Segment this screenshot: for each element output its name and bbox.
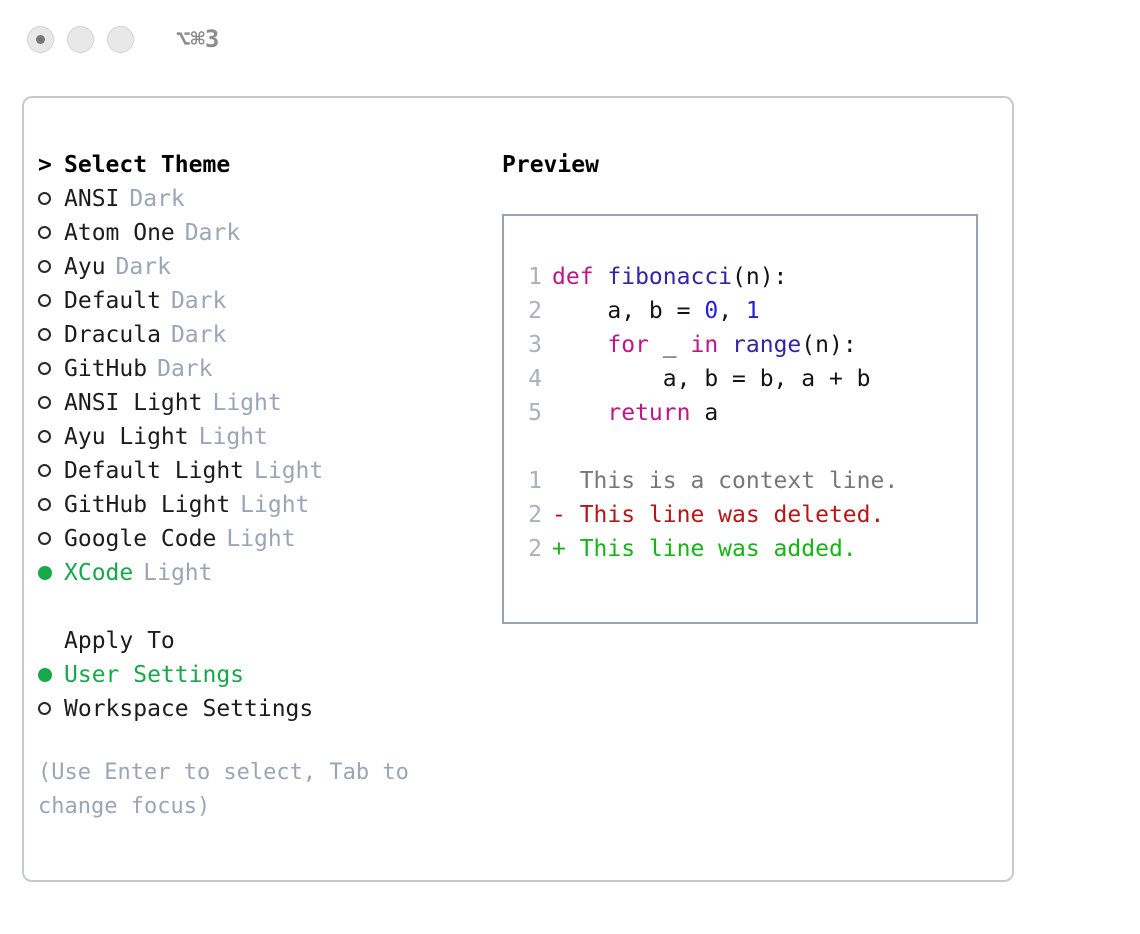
- theme-list-item[interactable]: GitHubDark: [38, 352, 478, 386]
- theme-name: Default: [64, 284, 161, 318]
- theme-name: GitHub Light: [64, 488, 230, 522]
- window-dot-second-icon[interactable]: [67, 26, 94, 53]
- theme-variant-tag: Dark: [116, 250, 171, 284]
- line-number: 1: [522, 464, 552, 498]
- theme-name: Ayu: [64, 250, 106, 284]
- code-line: 1def fibonacci(n):: [522, 260, 976, 294]
- theme-name: Dracula: [64, 318, 161, 352]
- theme-name: ANSI Light: [64, 386, 202, 420]
- diff-line: 1 This is a context line.: [522, 464, 976, 498]
- radio-shape: [38, 566, 52, 580]
- line-number: 4: [522, 362, 552, 396]
- theme-name: XCode: [64, 556, 133, 590]
- code-token: 0: [704, 298, 718, 324]
- theme-variant-tag: Light: [240, 488, 309, 522]
- diff-sample: 1 This is a context line.2- This line wa…: [522, 464, 976, 566]
- app-window: ⌥⌘3 > Select Theme ANSIDarkAtom OneDarkA…: [0, 0, 1140, 934]
- code-line: 2 a, b = 0, 1: [522, 294, 976, 328]
- theme-name: Ayu Light: [64, 420, 189, 454]
- code-token: a: [690, 400, 718, 426]
- apply-to-list: User SettingsWorkspace Settings: [38, 658, 478, 726]
- radio-unselected-icon: [38, 250, 64, 284]
- theme-variant-tag: Dark: [171, 284, 226, 318]
- theme-list-item[interactable]: ANSI LightLight: [38, 386, 478, 420]
- code-token: (n):: [732, 264, 787, 290]
- radio-shape: [38, 362, 51, 375]
- code-text: for _ in range(n):: [552, 328, 857, 362]
- code-line: 4 a, b = b, a + b: [522, 362, 976, 396]
- window-dot-third-icon[interactable]: [107, 26, 134, 53]
- theme-variant-tag: Dark: [171, 318, 226, 352]
- theme-name: Google Code: [64, 522, 216, 556]
- preview-title: Preview: [502, 148, 1002, 182]
- window-dot-active-icon[interactable]: [27, 26, 54, 53]
- code-text: This is a context line.: [552, 464, 898, 498]
- code-text: - This line was deleted.: [552, 498, 884, 532]
- code-diff-gap: [522, 430, 976, 464]
- radio-shape: [38, 464, 51, 477]
- line-number: 2: [522, 498, 552, 532]
- window-dot-inner: [36, 35, 45, 44]
- theme-variant-tag: Light: [226, 522, 295, 556]
- theme-list-header: > Select Theme: [38, 148, 478, 182]
- apply-to-option[interactable]: User Settings: [38, 658, 478, 692]
- keyboard-shortcut-label: ⌥⌘3: [176, 27, 219, 51]
- prompt-caret-icon: >: [38, 148, 64, 182]
- theme-name: GitHub: [64, 352, 147, 386]
- theme-list-item[interactable]: Google CodeLight: [38, 522, 478, 556]
- radio-shape: [38, 498, 51, 511]
- line-number: 1: [522, 260, 552, 294]
- theme-variant-tag: Light: [212, 386, 281, 420]
- theme-list-item[interactable]: XCodeLight: [38, 556, 478, 590]
- code-token: + This line was added.: [552, 536, 857, 562]
- radio-unselected-icon: [38, 216, 64, 250]
- theme-list-item[interactable]: AyuDark: [38, 250, 478, 284]
- radio-shape: [38, 532, 51, 545]
- theme-list-item[interactable]: Ayu LightLight: [38, 420, 478, 454]
- code-token: a, b = b, a + b: [552, 366, 871, 392]
- theme-variant-tag: Dark: [185, 216, 240, 250]
- code-token: def: [552, 264, 607, 290]
- theme-variant-tag: Light: [254, 454, 323, 488]
- radio-unselected-icon: [38, 454, 64, 488]
- code-text: a, b = b, a + b: [552, 362, 871, 396]
- theme-list-item[interactable]: Default LightLight: [38, 454, 478, 488]
- radio-shape: [38, 226, 51, 239]
- diff-line: 2+ This line was added.: [522, 532, 976, 566]
- code-text: def fibonacci(n):: [552, 260, 787, 294]
- radio-shape: [38, 294, 51, 307]
- radio-shape: [38, 192, 51, 205]
- theme-variant-tag: Light: [199, 420, 268, 454]
- radio-unselected-icon: [38, 352, 64, 386]
- keyboard-hint: (Use Enter to select, Tab to change focu…: [38, 756, 438, 824]
- code-token: 1: [746, 298, 760, 324]
- line-number: 2: [522, 532, 552, 566]
- theme-list-title: Select Theme: [64, 148, 230, 182]
- theme-list-item[interactable]: ANSIDark: [38, 182, 478, 216]
- code-token: in: [690, 332, 718, 358]
- radio-selected-icon: [38, 556, 64, 590]
- theme-name: Atom One: [64, 216, 175, 250]
- preview-column: Preview 1def fibonacci(n):2 a, b = 0, 13…: [502, 148, 1002, 624]
- theme-name: ANSI: [64, 182, 119, 216]
- code-text: a, b = 0, 1: [552, 294, 760, 328]
- theme-list-item[interactable]: Atom OneDark: [38, 216, 478, 250]
- code-token: [552, 400, 607, 426]
- code-text: return a: [552, 396, 718, 430]
- radio-shape: [38, 328, 51, 341]
- theme-list-item[interactable]: DraculaDark: [38, 318, 478, 352]
- line-number: 2: [522, 294, 552, 328]
- radio-shape: [38, 702, 51, 715]
- radio-unselected-icon: [38, 284, 64, 318]
- code-token: (n):: [801, 332, 856, 358]
- theme-variant-tag: Dark: [129, 182, 184, 216]
- theme-list-item[interactable]: GitHub LightLight: [38, 488, 478, 522]
- radio-shape: [38, 668, 52, 682]
- code-token: _: [649, 332, 691, 358]
- theme-list-item[interactable]: DefaultDark: [38, 284, 478, 318]
- code-line: 5 return a: [522, 396, 976, 430]
- line-number: 3: [522, 328, 552, 362]
- title-bar: ⌥⌘3: [0, 0, 1140, 78]
- apply-to-option[interactable]: Workspace Settings: [38, 692, 478, 726]
- main-panel: > Select Theme ANSIDarkAtom OneDarkAyuDa…: [22, 96, 1014, 882]
- theme-name: Default Light: [64, 454, 244, 488]
- preview-box: 1def fibonacci(n):2 a, b = 0, 13 for _ i…: [502, 214, 978, 624]
- code-token: [552, 332, 607, 358]
- code-token: fibonacci: [607, 264, 732, 290]
- radio-unselected-icon: [38, 420, 64, 454]
- radio-shape: [38, 430, 51, 443]
- radio-shape: [38, 260, 51, 273]
- code-token: return: [607, 400, 690, 426]
- code-token: This is a context line.: [552, 468, 898, 494]
- code-token: ,: [718, 298, 746, 324]
- apply-to-label: Workspace Settings: [64, 692, 313, 726]
- list-spacer: [38, 590, 478, 624]
- radio-shape: [38, 396, 51, 409]
- theme-selector-column: > Select Theme ANSIDarkAtom OneDarkAyuDa…: [38, 148, 478, 824]
- code-line: 3 for _ in range(n):: [522, 328, 976, 362]
- code-token: for: [607, 332, 649, 358]
- theme-variant-tag: Dark: [157, 352, 212, 386]
- radio-unselected-icon: [38, 488, 64, 522]
- code-token: a, b =: [552, 298, 704, 324]
- code-text: + This line was added.: [552, 532, 857, 566]
- radio-unselected-icon: [38, 318, 64, 352]
- radio-selected-icon: [38, 658, 64, 692]
- code-token: - This line was deleted.: [552, 502, 884, 528]
- code-token: [718, 332, 732, 358]
- code-token: range: [732, 332, 801, 358]
- apply-to-header: Apply To: [38, 624, 478, 658]
- code-sample: 1def fibonacci(n):2 a, b = 0, 13 for _ i…: [522, 260, 976, 430]
- theme-variant-tag: Light: [143, 556, 212, 590]
- diff-line: 2- This line was deleted.: [522, 498, 976, 532]
- line-number: 5: [522, 396, 552, 430]
- theme-list: ANSIDarkAtom OneDarkAyuDarkDefaultDarkDr…: [38, 182, 478, 590]
- apply-to-label: User Settings: [64, 658, 244, 692]
- radio-unselected-icon: [38, 386, 64, 420]
- radio-unselected-icon: [38, 182, 64, 216]
- radio-unselected-icon: [38, 522, 64, 556]
- radio-unselected-icon: [38, 692, 64, 726]
